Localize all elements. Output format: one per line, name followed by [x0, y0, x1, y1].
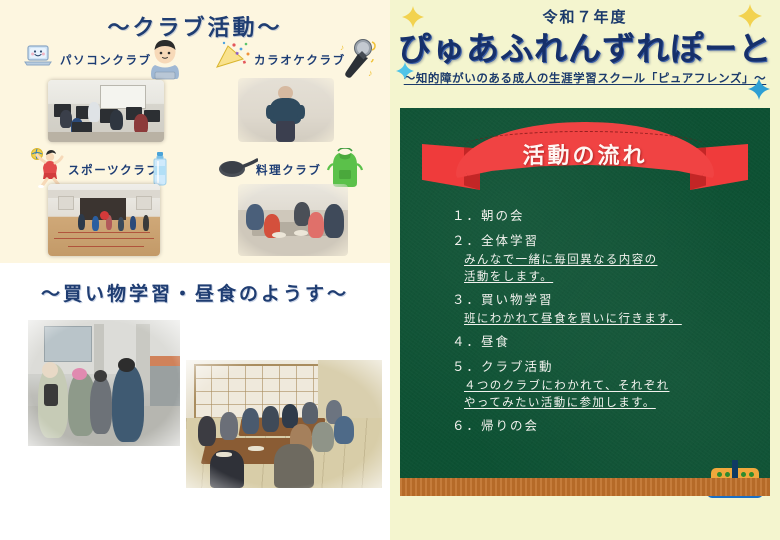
cooking-club-photo — [238, 184, 348, 256]
confetti-icon — [214, 40, 252, 70]
chalkboard: 活動の流れ １．朝の会 ２．全体学習 みんなで一緒に毎回異なる内容の 活動をしま… — [400, 108, 770, 496]
club-label-cooking: 料理クラブ — [256, 162, 322, 178]
club-section-title: ～クラブ活動～ — [0, 10, 390, 42]
water-bottle-icon — [152, 152, 168, 186]
volleyball-player-icon — [28, 148, 66, 188]
flow-item-2: ２．全体学習 みんなで一緒に毎回異なる内容の 活動をします。 — [452, 231, 758, 285]
sparkle-star-cyan-right-icon — [748, 78, 770, 100]
sparkle-star-cyan-left-icon — [396, 62, 414, 80]
sparkle-star-yellow-left-icon — [402, 6, 424, 28]
flow-item-head: ５．クラブ活動 — [452, 357, 758, 377]
frying-pan-icon — [218, 156, 258, 180]
left-panel: ～クラブ活動～ パソコンクラブ — [0, 0, 390, 540]
flow-item-note: ４つのクラブにわかれて、それぞれ — [464, 377, 758, 394]
ribbon-title: 活動の流れ — [422, 138, 748, 170]
lunch-tatami-room-photo — [186, 360, 382, 488]
svg-text:♪: ♪ — [340, 43, 344, 52]
flow-item-note: やってみたい活動に参加します。 — [464, 394, 758, 411]
newsletter-page: ～クラブ活動～ パソコンクラブ — [0, 0, 780, 540]
club-label-sports: スポーツクラブ — [68, 162, 159, 178]
flow-item-note: 活動をします。 — [464, 268, 758, 285]
right-panel: 令和７年度 ぴゅあふれんずれぽーと ～知的障がいのある成人の生涯学習スクール「ピ… — [390, 0, 780, 540]
flow-item-head: ６．帰りの会 — [452, 416, 758, 436]
karaoke-club-photo — [238, 78, 334, 142]
chalkboard-base — [400, 478, 770, 496]
newsletter-header: 令和７年度 ぴゅあふれんずれぽーと ～知的障がいのある成人の生涯学習スクール「ピ… — [390, 0, 780, 105]
shopping-section-title: ～買い物学習・昼食のようす～ — [0, 279, 390, 306]
walking-to-store-photo — [28, 320, 180, 446]
club-label-karaoke: カラオケクラブ — [254, 52, 346, 68]
computer-club-photo — [48, 80, 164, 142]
page-title: ぴゅあふれんずれぽーと — [390, 22, 780, 70]
laptop-icon — [24, 44, 52, 68]
flow-item-4: ４．昼食 — [452, 332, 758, 352]
flow-item-head: ２．全体学習 — [452, 231, 758, 251]
flow-item-1: １．朝の会 — [452, 206, 758, 226]
person-at-laptop-icon — [148, 38, 182, 80]
microphone-icon: ♪ ♪ — [338, 36, 378, 80]
club-label-pc: パソコンクラブ — [60, 52, 152, 68]
flow-item-head: １．朝の会 — [452, 206, 758, 226]
flow-item-note: みんなで一緒に毎回異なる内容の — [464, 251, 758, 268]
activity-flow-list: １．朝の会 ２．全体学習 みんなで一緒に毎回異なる内容の 活動をします。 ３．買… — [452, 206, 758, 441]
flow-item-6: ６．帰りの会 — [452, 416, 758, 436]
ribbon-banner: 活動の流れ — [422, 122, 748, 208]
flow-item-head: ３．買い物学習 — [452, 290, 758, 310]
svg-text:♪: ♪ — [368, 68, 373, 78]
flow-item-head: ４．昼食 — [452, 332, 758, 352]
sparkle-star-yellow-right-icon — [738, 4, 762, 28]
page-subtitle: ～知的障がいのある成人の生涯学習スクール「ピュアフレンズ」～ — [390, 70, 780, 86]
flow-item-note: 班にわかれて昼食を買いに行きます。 — [464, 310, 758, 327]
sports-club-photo — [48, 184, 160, 256]
flow-item-5: ５．クラブ活動 ４つのクラブにわかれて、それぞれ やってみたい活動に参加します。 — [452, 357, 758, 411]
flow-item-3: ３．買い物学習 班にわかれて昼食を買いに行きます。 — [452, 290, 758, 327]
